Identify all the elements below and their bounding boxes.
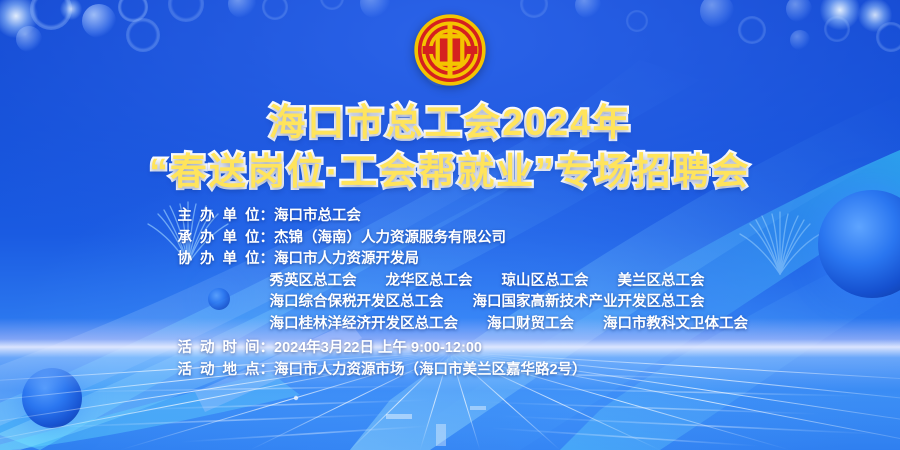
bokeh-dot — [790, 30, 810, 50]
info-row-place: 活动地点 ： 海口市人力资源市场（海口市美兰区嘉华路2号） — [0, 360, 900, 382]
time-label: 活动时间 — [178, 338, 260, 360]
info-row-coorganizer-extra-3: 海口桂林洋经济开发区总工会 海口财贸工会 海口市教科文卫体工会 — [0, 314, 900, 336]
place-value: 海口市人力资源市场（海口市美兰区嘉华路2号） — [274, 360, 723, 382]
bokeh-dot — [320, 0, 344, 10]
bokeh-dot — [700, 0, 734, 28]
all-china-federation-of-trade-unions-emblem — [414, 14, 486, 86]
bokeh-dot — [820, 0, 860, 30]
info-row-coorganizer: 协办单位 ： 海口市人力资源开发局 — [0, 249, 900, 271]
coorganizer-extra-line-2: 海口综合保税开发区总工会 海口国家高新技术产业开发区总工会 — [270, 292, 723, 314]
bokeh-dot — [786, 0, 812, 22]
coorganizer-label: 协办单位 — [178, 249, 260, 271]
bokeh-dot — [262, 0, 288, 20]
bokeh-dot — [360, 0, 390, 18]
event-info-block: 主办单位 ： 海口市总工会 承办单位 ： 杰锦（海南）人力资源服务有限公司 协办… — [0, 206, 900, 381]
bokeh-dot — [168, 0, 204, 22]
organizer-label: 主办单位 — [178, 206, 260, 228]
bokeh-dot — [126, 18, 160, 52]
bokeh-dot — [626, 10, 648, 32]
undertaker-label: 承办单位 — [178, 228, 260, 250]
coorganizer-colon: ： — [260, 249, 275, 271]
bokeh-dot — [738, 16, 766, 44]
bokeh-dot — [876, 22, 900, 52]
bokeh-dot — [824, 16, 850, 42]
undertaker-colon: ： — [260, 228, 275, 250]
organizer-colon: ： — [260, 206, 275, 228]
bokeh-dot — [858, 0, 892, 32]
bokeh-dot — [82, 4, 116, 38]
coorganizer-extra-line-3: 海口桂林洋经济开发区总工会 海口财贸工会 海口市教科文卫体工会 — [270, 314, 749, 336]
bokeh-dot — [16, 26, 42, 52]
info-row-coorganizer-extra-2: 海口综合保税开发区总工会 海口国家高新技术产业开发区总工会 — [0, 292, 900, 314]
info-row-organizer: 主办单位 ： 海口市总工会 — [0, 206, 900, 228]
bokeh-dot — [520, 0, 548, 18]
info-row-coorganizer-extra-1: 秀英区总工会 龙华区总工会 琼山区总工会 美兰区总工会 — [0, 271, 900, 293]
organizer-value: 海口市总工会 — [274, 206, 723, 228]
bokeh-dot — [575, 0, 601, 18]
bokeh-dot — [118, 0, 148, 22]
place-label: 活动地点 — [178, 360, 260, 382]
coorganizer-value: 海口市人力资源开发局 — [274, 249, 723, 271]
time-colon: ： — [260, 338, 275, 360]
bokeh-dot — [0, 0, 38, 38]
poster-title-block: 海口市总工会2024年 “春送岗位·工会帮就业”专场招聘会 — [0, 100, 900, 194]
title-line-1: 海口市总工会2024年 — [0, 100, 900, 145]
coorganizer-extra-line-1: 秀英区总工会 龙华区总工会 琼山区总工会 美兰区总工会 — [270, 271, 723, 293]
bokeh-dot — [30, 0, 72, 30]
bokeh-dot — [228, 0, 256, 18]
info-row-undertaker: 承办单位 ： 杰锦（海南）人力资源服务有限公司 — [0, 228, 900, 250]
time-value: 2024年3月22日 上午 9:00-12:00 — [274, 338, 723, 360]
title-line-2: “春送岗位·工会帮就业”专场招聘会 — [0, 149, 900, 194]
undertaker-value: 杰锦（海南）人力资源服务有限公司 — [274, 228, 723, 250]
recruitment-fair-poster: 海口市总工会2024年 “春送岗位·工会帮就业”专场招聘会 主办单位 ： 海口市… — [0, 0, 900, 450]
place-colon: ： — [260, 360, 275, 382]
info-row-time: 活动时间 ： 2024年3月22日 上午 9:00-12:00 — [0, 338, 900, 360]
bokeh-dot — [60, 0, 82, 20]
